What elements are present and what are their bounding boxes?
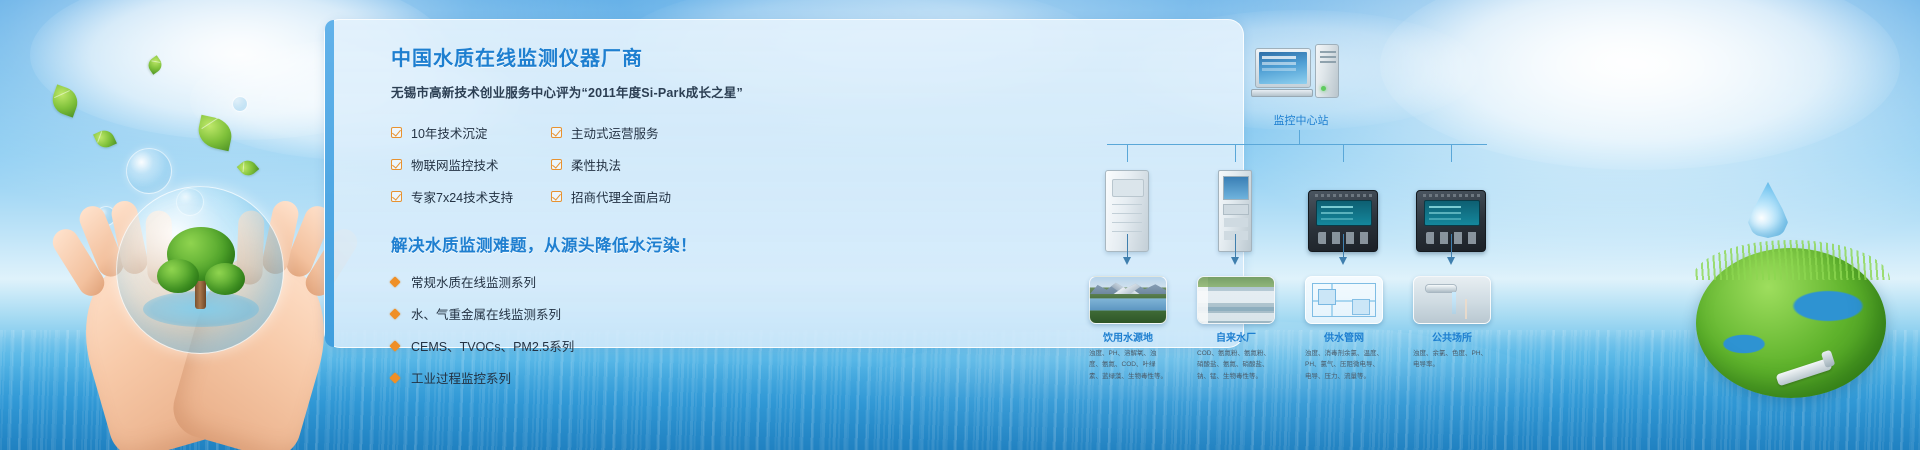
application-card-desc: COD、氨氮粉、氨氮粉、硝酸盐、氨氮、硝酸盐、钠、锰、生物毒性等。 (1197, 348, 1275, 382)
checklist-item: 10年技术沉淀 (391, 123, 551, 142)
content-panel: 中国水质在线监测仪器厂商 无锡市高新技术创业服务中心评为“2011年度Si-Pa… (324, 19, 1244, 348)
down-arrow-icon (1343, 234, 1344, 258)
page-title: 中国水质在线监测仪器厂商 (391, 42, 761, 71)
application-card[interactable]: 饮用水源地 浊度、PH、溶解氧、浊度、氨氮、COD、叶绿素、蓝绿藻、生物毒性等。 (1089, 276, 1167, 382)
application-card-title: 饮用水源地 (1089, 329, 1167, 344)
water-monitoring-banner: 中国水质在线监测仪器厂商 无锡市高新技术创业服务中心评为“2011年度Si-Pa… (0, 0, 1920, 450)
topology-branch-line (1343, 144, 1344, 162)
list-item-label: 水、气重金属在线监测系列 (411, 304, 561, 323)
topology-branch-line (1451, 144, 1452, 162)
product-series-list: 常规水质在线监测系列 水、气重金属在线监测系列 CEMS、TVOCs、PM2.5… (391, 272, 761, 387)
application-card-desc: 浊度、消毒剂余氯、温度、PH、氯气、压阻微电导、电导、压力、流量等。 (1305, 348, 1383, 382)
section-headline: 解决水质监测难题，从源头降低水污染！ (391, 232, 761, 256)
list-item: 水、气重金属在线监测系列 (391, 304, 761, 323)
monitor-screen (1259, 52, 1307, 84)
list-item-label: 常规水质在线监测系列 (411, 272, 536, 291)
application-card-desc: 浊度、PH、溶解氧、浊度、氨氮、COD、叶绿素、蓝绿藻、生物毒性等。 (1089, 348, 1167, 382)
diamond-bullet-icon (389, 276, 400, 287)
monitoring-center-hardware (1255, 48, 1345, 108)
application-card-title: 公共场所 (1413, 329, 1491, 344)
application-cards: 饮用水源地 浊度、PH、溶解氧、浊度、氨氮、COD、叶绿素、蓝绿藻、生物毒性等。… (1085, 276, 1505, 366)
application-card-title: 自来水厂 (1197, 329, 1275, 344)
diamond-bullet-icon (389, 340, 400, 351)
checkbox-checked-icon (391, 127, 402, 138)
tree-crown-icon (157, 259, 199, 293)
checklist-item: 招商代理全面启动 (551, 187, 711, 206)
list-item: 常规水质在线监测系列 (391, 272, 761, 291)
public-tap-photo (1413, 276, 1491, 324)
checklist-item-label: 主动式运营服务 (571, 123, 659, 142)
river-landscape-photo (1089, 276, 1167, 324)
topology-stem (1299, 130, 1300, 144)
application-card[interactable]: 供水管网 浊度、消毒剂余氯、温度、PH、氯气、压阻微电导、电导、压力、流量等。 (1305, 276, 1383, 382)
diamond-bullet-icon (389, 372, 400, 383)
feature-checklist: 10年技术沉淀 主动式运营服务 物联网监控技术 柔性执法 专家7x24技术支持 (391, 123, 711, 219)
desktop-computer-icon (1255, 48, 1311, 88)
list-item: 工业过程监控系列 (391, 368, 761, 387)
center-station-label: 监控中心站 (1233, 112, 1369, 128)
list-item: CEMS、TVOCs、PM2.5系列 (391, 336, 761, 355)
checklist-item: 柔性执法 (551, 155, 711, 174)
glass-globe-icon (116, 186, 284, 354)
application-card-title: 供水管网 (1305, 329, 1383, 344)
tree-crown-icon (205, 263, 245, 295)
down-arrow-icon (1235, 234, 1236, 258)
list-item-label: CEMS、TVOCs、PM2.5系列 (411, 336, 574, 355)
bubble-icon (232, 96, 248, 112)
application-card[interactable]: 自来水厂 COD、氨氮粉、氨氮粉、硝酸盐、氨氮、硝酸盐、钠、锰、生物毒性等。 (1197, 276, 1275, 382)
checklist-item-label: 专家7x24技术支持 (411, 187, 513, 206)
checkbox-checked-icon (391, 191, 402, 202)
checkbox-checked-icon (391, 159, 402, 170)
checklist-item-label: 物联网监控技术 (411, 155, 499, 174)
text-column: 中国水质在线监测仪器厂商 无锡市高新技术创业服务中心评为“2011年度Si-Pa… (391, 42, 761, 400)
checklist-item-label: 10年技术沉淀 (411, 123, 487, 142)
application-card-desc: 浊度、余氯、色度、PH、电导率。 (1413, 348, 1491, 371)
hands-holding-tree-globe (60, 160, 360, 450)
page-subtitle: 无锡市高新技术创业服务中心评为“2011年度Si-Park成长之星” (391, 82, 761, 101)
down-arrow-icon (1127, 234, 1128, 258)
checklist-item: 物联网监控技术 (391, 155, 551, 174)
system-topology-diagram: 监控中心站 (1085, 44, 1505, 364)
checklist-item-label: 招商代理全面启动 (571, 187, 671, 206)
checkbox-checked-icon (551, 127, 562, 138)
checkbox-checked-icon (551, 159, 562, 170)
topology-bus-line (1107, 144, 1487, 145)
list-item-label: 工业过程监控系列 (411, 368, 511, 387)
keyboard-icon (1251, 89, 1313, 97)
checklist-item: 主动式运营服务 (551, 123, 711, 142)
water-plant-photo (1197, 276, 1275, 324)
topology-branch-line (1127, 144, 1128, 162)
pipe-network-photo (1305, 276, 1383, 324)
down-arrow-icon (1451, 234, 1452, 258)
checkbox-checked-icon (551, 191, 562, 202)
topology-branch-line (1235, 144, 1236, 162)
checklist-item: 专家7x24技术支持 (391, 187, 551, 206)
checklist-item-label: 柔性执法 (571, 155, 621, 174)
diamond-bullet-icon (389, 308, 400, 319)
server-tower-icon (1315, 44, 1339, 98)
device-row (1085, 162, 1505, 252)
application-card[interactable]: 公共场所 浊度、余氯、色度、PH、电导率。 (1413, 276, 1491, 371)
